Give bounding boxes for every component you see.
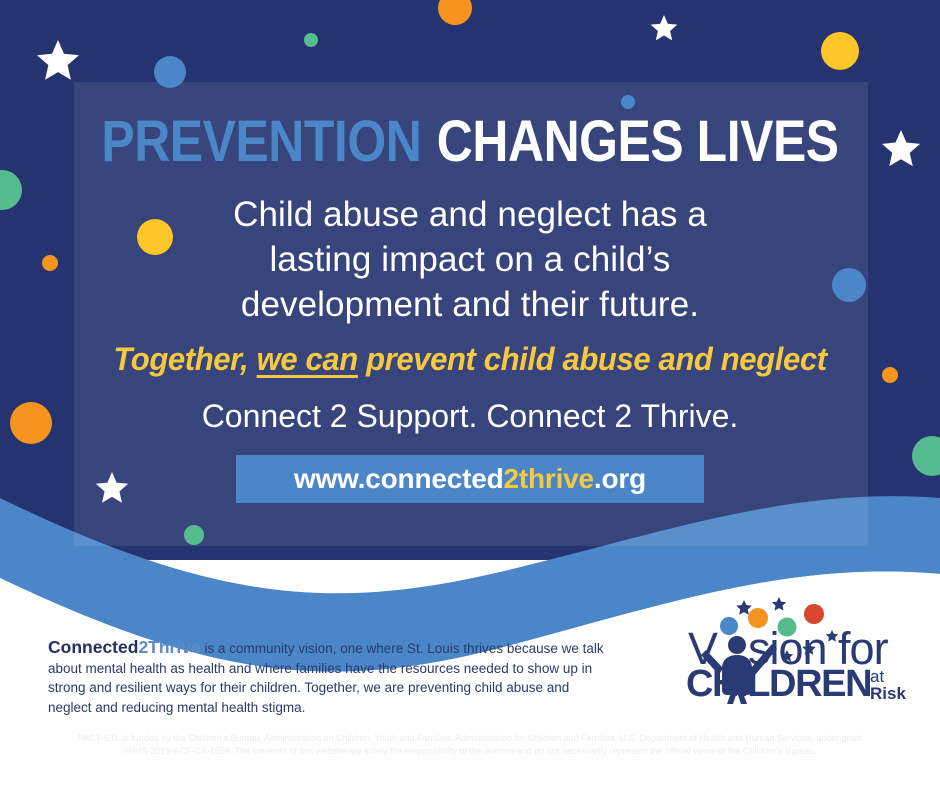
dot-green-top (304, 33, 318, 47)
vision-for-children-at-risk-logo[interactable]: V sion for CHILDREN at Risk (686, 592, 914, 704)
tagline: Connect 2 Support. Connect 2 Thrive. (0, 395, 940, 437)
url-brand: 2thrive (504, 463, 594, 495)
dot-green-lower (184, 525, 204, 545)
url-prefix: www.connected (294, 463, 504, 495)
circle-orange-top (438, 0, 472, 25)
headline-prevention: PREVENTION (101, 109, 421, 174)
subheadline-line-2: lasting impact on a child’s (0, 237, 940, 282)
script-before: Together, (113, 341, 256, 377)
website-url-banner[interactable]: www.connected2thrive.org (236, 455, 704, 503)
star-lower-left (96, 472, 128, 503)
logo-line-children: CHILDREN (686, 663, 871, 704)
subheadline-line-3: development and their future. (0, 282, 940, 327)
poster-canvas: PREVENTIONCHANGES LIVES Child abuse and … (0, 0, 940, 788)
star-right (882, 130, 920, 166)
star-top-mid (651, 15, 678, 40)
script-callout: Together, we can prevent child abuse and… (14, 340, 926, 378)
headline-changes-lives: CHANGES LIVES (437, 109, 839, 174)
dot-blue-upper (621, 95, 635, 109)
logo-line-risk: Risk (870, 684, 906, 703)
star-top-left (37, 40, 79, 80)
script-underlined-we-can: we can (257, 341, 358, 377)
url-tld: .org (594, 463, 646, 495)
logo-star-2 (772, 597, 786, 611)
subheadline: Child abuse and neglect has a lasting im… (0, 192, 940, 327)
funding-disclaimer: PACT-STL is funded by the Children's Bur… (70, 732, 870, 757)
logo-blue-dot (720, 617, 738, 635)
brand-connected: Connected (48, 637, 138, 657)
brand-2thrive: 2Thrive (138, 637, 200, 657)
subheadline-line-1: Child abuse and neglect has a (0, 192, 940, 237)
script-after: prevent child abuse and neglect (358, 341, 827, 377)
circle-blue-top (154, 56, 186, 88)
logo-star-1 (736, 600, 752, 615)
circle-yellow-right (821, 32, 859, 70)
circle-green-right (912, 436, 940, 476)
logo-red-dot (804, 604, 824, 624)
footer-description: Connected2Thrive is a community vision, … (48, 638, 608, 717)
page-title: PREVENTIONCHANGES LIVES (66, 113, 874, 171)
